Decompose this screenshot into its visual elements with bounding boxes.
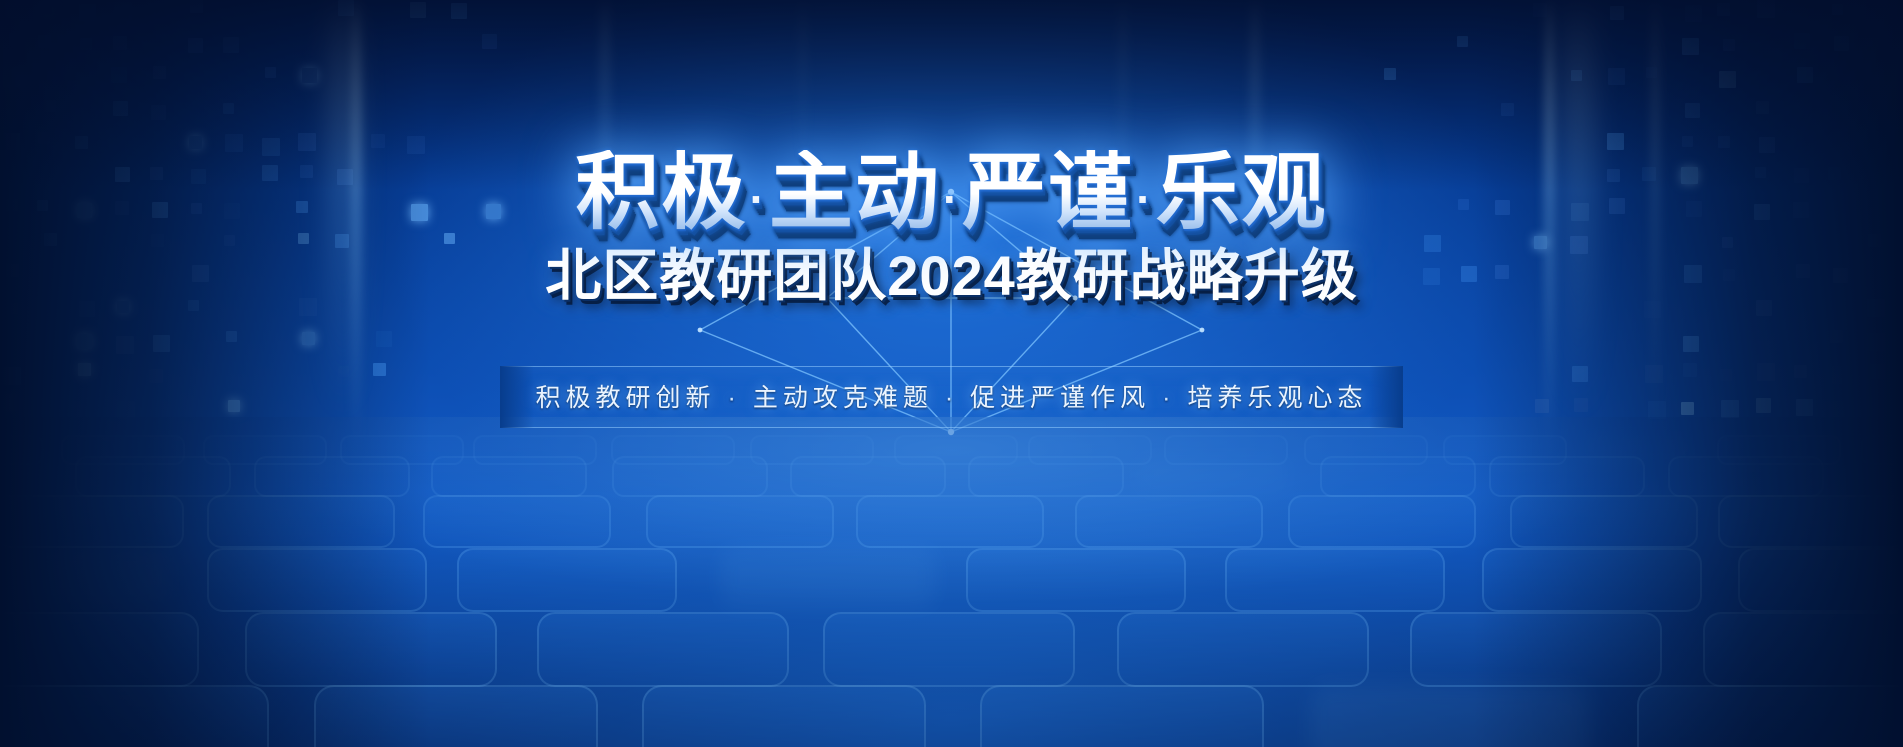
mosaic-block <box>451 3 467 19</box>
banner-root: 积极·主动·严谨·乐观 北区教研团队2024教研战略升级 积极教研创新·主动攻克… <box>0 0 1903 747</box>
tagline-item: 积极教研创新 <box>535 384 715 412</box>
floor-tile <box>75 456 231 497</box>
tagline-text: 积极教研创新·主动攻克难题·促进严谨作风·培养乐观心态 <box>535 378 1367 414</box>
mosaic-block <box>338 0 354 16</box>
mosaic-block <box>482 34 497 49</box>
floor-tile <box>203 435 327 465</box>
mosaic-block <box>265 67 276 78</box>
tagline-wrapper: 积极教研创新·主动攻克难题·促进严谨作风·培养乐观心态 <box>0 366 1903 428</box>
floor-tile <box>1288 495 1476 547</box>
floor-tile <box>894 435 1018 465</box>
tagline-frame: 积极教研创新·主动攻克难题·促进严谨作风·培养乐观心态 <box>500 366 1402 428</box>
floor-tile <box>0 495 184 547</box>
mosaic-block <box>1610 6 1624 20</box>
floor-tile <box>1304 435 1428 465</box>
mosaic-block <box>190 0 203 13</box>
mosaic-block <box>80 38 92 50</box>
floor-tile <box>207 495 395 547</box>
tagline-separator: · <box>715 384 752 412</box>
floor-tile <box>1136 456 1288 493</box>
title-word: 乐观 <box>1156 145 1328 239</box>
floor-tile <box>423 495 611 547</box>
tagline-separator: · <box>933 384 970 412</box>
floor-tile <box>1075 495 1263 547</box>
mosaic-block <box>1608 68 1625 85</box>
floor-tile <box>856 495 1044 547</box>
mosaic-block <box>3 133 20 150</box>
banner-content: 积极·主动·严谨·乐观 北区教研团队2024教研战略升级 积极教研创新·主动攻克… <box>0 150 1903 428</box>
mosaic-block <box>1834 36 1849 51</box>
title-word: 主动 <box>769 145 941 239</box>
mosaic-block <box>1682 136 1693 147</box>
mosaic-block <box>1797 67 1813 83</box>
mosaic-block <box>38 35 51 48</box>
mosaic-block <box>223 103 234 114</box>
title-separator: · <box>1134 173 1155 225</box>
floor-tile <box>431 456 587 497</box>
floor-tile <box>1028 435 1152 465</box>
mosaic-block <box>371 134 385 148</box>
floor-tile <box>1637 685 1903 747</box>
floor-tile <box>1489 456 1645 497</box>
mosaic-block <box>1682 38 1699 55</box>
floor-tile <box>1703 612 1903 687</box>
floor-tile <box>1717 435 1841 465</box>
mosaic-block <box>44 100 56 112</box>
mosaic-block <box>188 38 203 53</box>
floor-tile <box>1510 495 1698 547</box>
floor-tile <box>1117 612 1369 687</box>
floor-tile <box>750 435 874 465</box>
mosaic-block <box>1867 36 1878 47</box>
floor-tile <box>1225 548 1445 612</box>
main-title: 积极·主动·严谨·乐观 <box>575 150 1327 234</box>
floor-tile <box>254 456 410 497</box>
mosaic-block <box>113 101 128 116</box>
mosaic-block <box>3 70 20 87</box>
mosaic-block <box>302 68 317 83</box>
floor-tile <box>0 685 269 747</box>
floor-tile <box>314 685 598 747</box>
floor-tile <box>1164 435 1288 465</box>
mosaic-block <box>223 37 239 53</box>
floor-tile <box>1668 456 1824 497</box>
floor-tile <box>790 456 946 497</box>
mosaic-block <box>1501 103 1514 116</box>
floor-tile <box>611 435 735 465</box>
tagline-item: 主动攻克难题 <box>753 384 933 412</box>
tagline-item: 培养乐观心态 <box>1188 384 1368 412</box>
mosaic-block <box>151 105 166 120</box>
floor-tile <box>1443 435 1567 465</box>
tagline-separator: · <box>1150 384 1187 412</box>
floor-tile <box>0 456 56 493</box>
floor-tile <box>1861 435 1903 465</box>
mosaic-block <box>1723 39 1735 51</box>
floor-tile <box>245 612 497 687</box>
floor-tile <box>340 435 464 465</box>
floor-tile <box>980 685 1264 747</box>
floor-tile <box>612 456 768 497</box>
mosaic-block <box>3 33 16 46</box>
floor-tile <box>968 456 1124 497</box>
mosaic-block <box>38 132 50 144</box>
floor-tile <box>1310 685 1590 747</box>
mosaic-block <box>1571 70 1582 81</box>
mosaic-block <box>111 67 127 83</box>
floor-tile <box>1320 456 1476 497</box>
floor-tile <box>537 612 789 687</box>
mosaic-block <box>114 2 132 20</box>
mosaic-block <box>298 133 316 151</box>
mosaic-block <box>1457 36 1468 47</box>
floor-tile <box>646 495 834 547</box>
title-word: 严谨 <box>962 145 1134 239</box>
mosaic-block <box>410 2 426 18</box>
floor-tile <box>1410 612 1662 687</box>
mosaic-block <box>1685 5 1702 22</box>
mosaic-block <box>79 4 96 21</box>
mosaic-block <box>1 100 14 113</box>
mosaic-block <box>189 136 202 149</box>
floor-tile <box>1843 456 1903 493</box>
floor-tile <box>1738 548 1903 612</box>
floor-tile <box>823 612 1075 687</box>
floor-tile <box>0 548 166 608</box>
floor-tile <box>966 548 1186 612</box>
mosaic-block <box>1757 0 1775 18</box>
floor-tile <box>61 435 185 465</box>
floor-tile <box>1482 548 1702 612</box>
mosaic-block <box>1794 33 1810 49</box>
mosaic-block <box>1646 67 1657 78</box>
mosaic-block <box>41 4 52 15</box>
floor-tile <box>0 612 199 687</box>
mosaic-block <box>1719 71 1736 88</box>
perspective-floor <box>0 417 1903 747</box>
floor-haze <box>0 417 1903 747</box>
title-word: 积极 <box>575 145 747 239</box>
mosaic-block <box>1533 3 1547 17</box>
mosaic-block <box>5 6 17 18</box>
mosaic-block <box>1607 133 1624 150</box>
floor-tile <box>473 435 597 465</box>
mosaic-block <box>75 136 88 149</box>
floor-tile <box>1718 495 1903 547</box>
mosaic-block <box>1756 101 1769 114</box>
mosaic-block <box>1685 103 1700 118</box>
floor-tile <box>457 548 677 612</box>
floor-tile <box>0 435 44 465</box>
floor-tile <box>207 548 427 612</box>
tagline-item: 促进严谨作风 <box>970 384 1150 412</box>
mosaic-block <box>1718 136 1730 148</box>
title-separator: · <box>941 173 962 225</box>
sub-title: 北区教研团队2024教研战略升级 <box>545 248 1358 304</box>
mosaic-block <box>1384 68 1396 80</box>
mosaic-block <box>1832 4 1843 15</box>
mosaic-block <box>113 36 127 50</box>
title-separator: · <box>747 173 768 225</box>
mosaic-block <box>153 66 166 79</box>
floor-tile <box>1578 435 1698 461</box>
floor-tile <box>642 685 926 747</box>
floor-tile <box>720 548 936 608</box>
mosaic-block <box>1717 3 1730 16</box>
